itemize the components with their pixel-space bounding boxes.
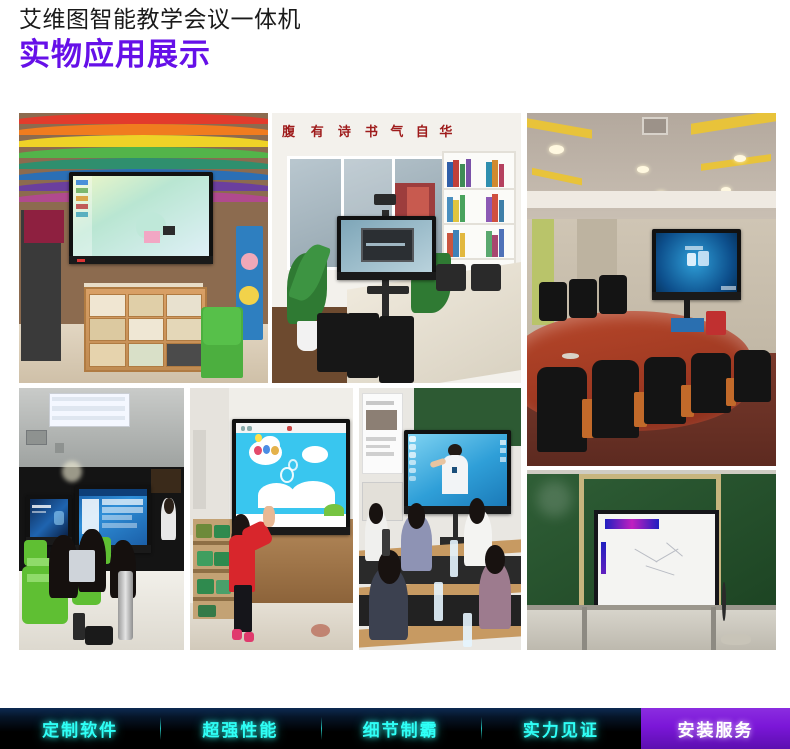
gallery-photo-training[interactable]: [19, 388, 184, 650]
tab-list: 定制软件 超强性能 细节制霸 实力见证 安装服务: [0, 708, 790, 749]
tab-strength-proof[interactable]: 实力见证: [481, 708, 641, 749]
gallery-photo-kindergarten[interactable]: [19, 113, 268, 383]
photo-scene: [359, 388, 521, 650]
feature-tab-bar: 定制软件 超强性能 细节制霸 实力见证 安装服务: [0, 708, 790, 749]
whiteboard-surface: [594, 510, 719, 612]
photo-scene: [190, 388, 353, 650]
photo-scene: [19, 113, 268, 383]
gallery-photo-child-touch[interactable]: [190, 388, 353, 650]
photo-scene: [19, 388, 184, 650]
gallery-photo-chalkboard[interactable]: [527, 470, 776, 650]
whiteboard-canvas: [236, 423, 345, 526]
gallery-photo-library[interactable]: 腹 有 诗 书 气 自 华: [272, 113, 521, 383]
tab-installation-service[interactable]: 安装服务: [641, 708, 790, 749]
photo-scene: 腹 有 诗 书 气 自 华: [272, 113, 521, 383]
tab-detail-mastery[interactable]: 细节制霸: [321, 708, 481, 749]
tab-super-performance[interactable]: 超强性能: [160, 708, 320, 749]
side-toolbar-strip: [601, 542, 607, 575]
brand-line: 艾维图智能教学会议一体机: [19, 6, 759, 34]
page-header: 艾维图智能教学会议一体机 实物应用展示: [19, 6, 759, 74]
gallery-photo-conference[interactable]: [527, 113, 776, 466]
photo-scene: [527, 113, 776, 466]
tab-custom-software[interactable]: 定制软件: [0, 708, 160, 749]
toolbar-strip: [605, 519, 659, 529]
photo-scene: [527, 470, 776, 650]
photo-gallery: 腹 有 诗 书 气 自 华: [0, 106, 790, 666]
page-root: 艾维图智能教学会议一体机 实物应用展示: [0, 0, 790, 749]
gallery-photo-seminar[interactable]: [359, 388, 521, 650]
page-title: 实物应用展示: [19, 36, 759, 74]
